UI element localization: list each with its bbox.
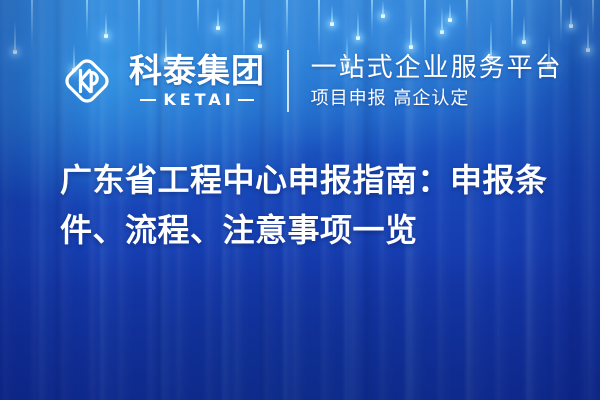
- banner-header: 科泰集团 KETAI 一站式企业服务平台 项目申报 高企认定: [0, 40, 600, 122]
- tagline-block: 一站式企业服务平台 项目申报 高企认定: [311, 54, 563, 109]
- logo-dash-right-icon: [238, 99, 254, 102]
- logo-company-name-en: KETAI: [129, 92, 265, 108]
- logo-company-name-cn: 科泰集团: [129, 54, 265, 87]
- logo-dash-left-icon: [140, 99, 156, 102]
- logo-wordmark: 科泰集团 KETAI: [129, 54, 265, 108]
- headline-title: 广东省工程中心申报指南：申报条件、流程、注意事项一览: [60, 156, 560, 256]
- ketai-logo[interactable]: 科泰集团 KETAI: [58, 52, 265, 110]
- header-divider: [287, 50, 289, 112]
- tagline-primary: 一站式企业服务平台: [311, 54, 563, 83]
- promo-banner: 科泰集团 KETAI 一站式企业服务平台 项目申报 高企认定 广东省工程中心申报…: [0, 0, 600, 400]
- logo-en-text: KETAI: [163, 92, 234, 108]
- ketai-diamond-kd-monogram-icon: [58, 52, 116, 110]
- tagline-secondary: 项目申报 高企认定: [311, 89, 563, 109]
